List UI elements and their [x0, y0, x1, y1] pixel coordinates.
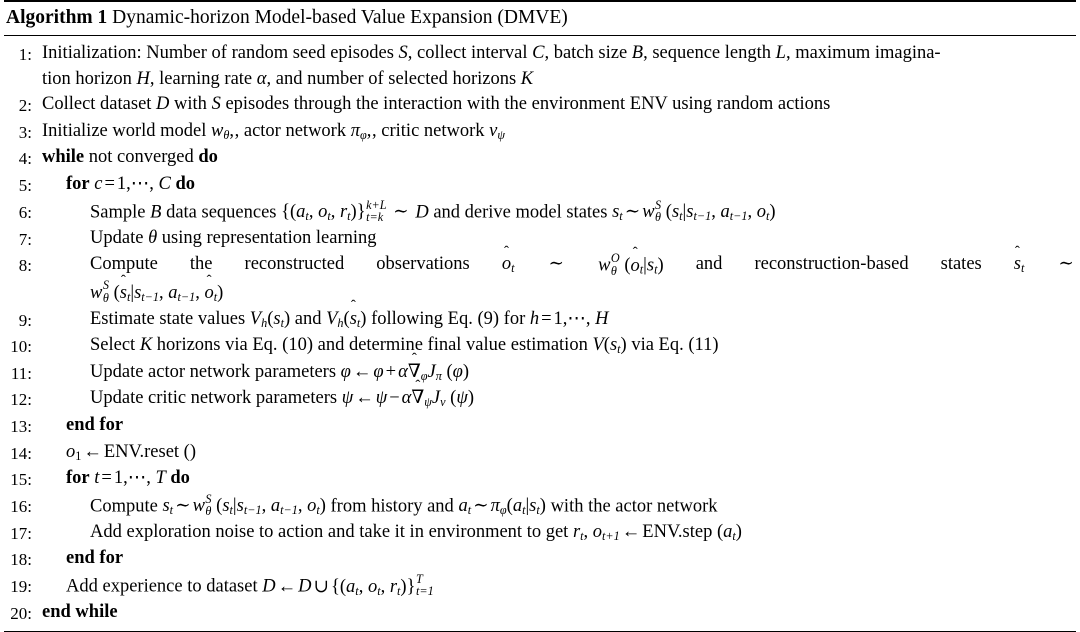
step-number: 1: — [4, 41, 38, 68]
step-text: from history and — [331, 496, 454, 516]
symbol-o: o — [593, 522, 602, 542]
algorithm-block: Algorithm 1 Dynamic-horizon Model-based … — [0, 0, 1080, 632]
algorithm-step: 8: Compute the reconstructed observation… — [4, 252, 1076, 306]
step-number: 20: — [4, 600, 38, 627]
hat-mark: ˆ — [121, 274, 126, 289]
step-content: end while — [38, 600, 1076, 626]
algorithm-step: 19: Add experience to dataset D←D∪{(at, … — [4, 573, 1076, 600]
symbol-s: s — [222, 496, 229, 516]
operator-equals: = — [539, 309, 553, 329]
step-number: 14: — [4, 440, 38, 467]
symbol-K: K — [521, 69, 533, 89]
hat-mark: ˆ — [415, 379, 420, 394]
step-number: 13: — [4, 413, 38, 440]
step-text: Update — [90, 228, 143, 248]
step-number: 3: — [4, 119, 38, 146]
step-text: using representation learning — [162, 228, 377, 248]
operator-union: ∪ — [311, 577, 331, 597]
symbol-V: V — [592, 335, 603, 355]
symbol-alpha: α — [402, 388, 412, 408]
step-text: Initialize world model — [42, 121, 206, 141]
observation-model: wOθ (ˆot|st) — [598, 252, 664, 279]
step-text: , learning rate — [150, 69, 252, 89]
data-sequence-set: {(at, ot, rt)}k+Lt=k — [281, 202, 386, 222]
symbol-o: o — [318, 202, 327, 222]
hat-mark: ˆ — [504, 245, 509, 260]
symbol-a: a — [723, 522, 732, 542]
env-reset-equation: o1←ENV.reset () — [66, 442, 196, 462]
symbol-D: D — [156, 94, 169, 114]
symbol-psi: ψ — [456, 388, 468, 408]
step-content: Initialize world model wθ, , actor netwo… — [38, 119, 1076, 145]
algorithm-step: 20: end while — [4, 600, 1076, 627]
operator-assign: ← — [81, 442, 104, 462]
symbol-D: D — [298, 577, 311, 597]
step-content: Update critic network parameters ψ←ψ−αˆ∇… — [38, 386, 1076, 412]
algorithm-step: 17: Add exploration noise to action and … — [4, 520, 1076, 547]
symbol-alpha: α — [398, 362, 408, 382]
symbol-V: V — [250, 309, 261, 329]
algorithm-step: 9: Estimate state values Vh(st) and Vh(ˆ… — [4, 307, 1076, 334]
empty-parens: () — [184, 442, 196, 462]
step-text: Update critic network parameters — [90, 388, 337, 408]
symbol-a: a — [458, 496, 467, 516]
step-number: 5: — [4, 172, 38, 199]
algorithm-step: 5: for c=1,⋯, C do — [4, 172, 1076, 199]
symbol-phi: φ — [360, 128, 367, 142]
symbol-a: a — [271, 496, 280, 516]
set-sub: t=1 — [416, 585, 434, 597]
step-text: following Eq. (9) for — [371, 309, 525, 329]
step-content: Collect dataset D with S episodes throug… — [38, 92, 1076, 118]
keyword-do: do — [176, 174, 196, 194]
step-content: Select K horizons via Eq. (10) and deter… — [38, 333, 1076, 359]
symbol-H: H — [595, 309, 608, 329]
keyword-end-while: end while — [42, 602, 118, 622]
algorithm-step: 14: o1←ENV.reset () — [4, 440, 1076, 467]
algorithm-steps: 1: Initialization: Number of random seed… — [4, 36, 1076, 631]
symbol-J: J — [432, 388, 440, 408]
critic-update-equation: ψ←ψ−αˆ∇ψJv (ψ) — [342, 388, 474, 408]
algorithm-step: 10: Select K horizons via Eq. (10) and d… — [4, 333, 1076, 360]
step-text: , and number of selected horizons — [266, 69, 516, 89]
set-limits: k+Lt=k — [366, 199, 386, 224]
ellipsis: ⋯ — [128, 468, 147, 488]
actor-update-equation: φ←φ+αˆ∇φJπ (φ) — [341, 362, 469, 382]
symbol-w: w — [90, 283, 102, 303]
experience-set: {(at, ot, rt)}Tt=1 — [331, 577, 434, 597]
sub-t-minus-1: t−1 — [693, 209, 711, 223]
step-text: Sample — [90, 202, 146, 222]
symbol-phi: φ — [341, 362, 351, 382]
algorithm-step: 4: while not converged do — [4, 145, 1076, 172]
operator-sim: ∼ — [1056, 252, 1076, 279]
symbol-C: C — [532, 43, 544, 63]
step-content: Update θ using representation learning — [38, 226, 1076, 252]
set-open: {( — [281, 202, 296, 222]
symbol-theta: θ — [223, 128, 229, 142]
symbol-pi: π — [491, 496, 500, 516]
symbol-J: J — [428, 362, 436, 382]
symbol-C: C — [159, 174, 171, 194]
step-number: 15: — [4, 466, 38, 493]
step-text: , sequence length — [643, 43, 771, 63]
symbol-s: s — [647, 256, 654, 276]
symbol-D: D — [262, 577, 275, 597]
step-text: , actor network — [235, 121, 346, 141]
step-number: 8: — [4, 252, 38, 279]
step-text: via Eq. (11) — [631, 335, 718, 355]
value-function-recon-state: Vh(ˆst) — [326, 309, 366, 329]
hat-mark: ˆ — [207, 274, 212, 289]
step-text: reconstruction-based — [754, 252, 908, 279]
algorithm-step: 18: end for — [4, 546, 1076, 573]
set-open: {( — [331, 577, 346, 597]
operator-assign: ← — [276, 577, 299, 597]
step-text: horizons via Eq. (10) and determine fina… — [157, 335, 588, 355]
step-text: episodes through the interaction with th… — [225, 94, 830, 114]
operator-sim: ∼ — [547, 252, 567, 279]
keyword-do: do — [198, 147, 218, 167]
keyword-for: for — [66, 174, 90, 194]
symbol-a: a — [168, 283, 177, 303]
world-model-state: wSθ (st|st−1, at−1, ot) — [642, 202, 775, 222]
algorithm-title: Algorithm 1 Dynamic-horizon Model-based … — [4, 2, 1076, 35]
algorithm-step: 3: Initialize world model wθ, , actor ne… — [4, 119, 1076, 146]
symbol-s: s — [237, 496, 244, 516]
set-sup: T — [416, 573, 434, 585]
algorithm-step: 12: Update critic network parameters ψ←ψ… — [4, 386, 1076, 413]
symbol-a: a — [346, 577, 355, 597]
set-close: )} — [351, 202, 366, 222]
step-text: Collect dataset — [42, 94, 151, 114]
algorithm-step: 7: Update θ using representation learnin… — [4, 226, 1076, 253]
hat-mark: ˆ — [351, 299, 356, 314]
step-text: data sequences — [166, 202, 276, 222]
value-one: 1 — [117, 174, 126, 194]
step-text: , maximum imagina- — [786, 43, 941, 63]
step-content: end for — [38, 413, 1076, 439]
step-text: reconstructed — [245, 252, 345, 279]
step-text: Add exploration noise to action and take… — [90, 522, 568, 542]
step-text: Initialization: Number of random seed ep… — [42, 43, 394, 63]
symbol-L: L — [776, 43, 786, 63]
operator-sim: ∼ — [623, 202, 643, 222]
step-text: Select — [90, 335, 135, 355]
env-reset-call: ENV.reset — [104, 442, 179, 462]
step-text: Compute — [90, 496, 158, 516]
step-text: Update actor network parameters — [90, 362, 336, 382]
symbol-B: B — [632, 43, 643, 63]
symbol-s: s — [273, 309, 280, 329]
step-text: not converged — [89, 147, 194, 167]
symbol-w: w — [598, 256, 610, 276]
symbol-B: B — [150, 202, 161, 222]
step-content: Sample B data sequences {(at, ot, rt)}k+… — [38, 199, 1076, 226]
operator-sim: ∼ — [173, 496, 193, 516]
step-content: for c=1,⋯, C do — [38, 172, 1076, 198]
state-transition-model: wSθ (st|st−1, at−1, ot) — [193, 496, 326, 516]
reconstructed-observation: ˆot — [502, 252, 515, 279]
sub-t-plus-1: t+1 — [602, 529, 620, 543]
step-content: Add exploration noise to action and take… — [38, 520, 1076, 546]
step-text: and — [295, 309, 322, 329]
symbol-w: w — [211, 121, 223, 141]
symbol-S: S — [399, 43, 408, 63]
algorithm-step: 6: Sample B data sequences {(at, ot, rt)… — [4, 199, 1076, 226]
hat-mark: ˆ — [412, 352, 417, 367]
env-step-equation: rt, ot+1←ENV.step (at) — [573, 522, 742, 542]
step-number: 12: — [4, 386, 38, 413]
reconstructed-state: ˆst — [1014, 252, 1025, 279]
sub-theta: θ — [611, 265, 620, 277]
step-content: Update actor network parameters φ←φ+αˆ∇φ… — [38, 360, 1076, 386]
sub-phi: φ — [421, 369, 428, 383]
algorithm-step: 2: Collect dataset D with S episodes thr… — [4, 92, 1076, 119]
symbol-a: a — [513, 496, 522, 516]
step-text: Add experience to dataset — [66, 577, 258, 597]
step-number: 7: — [4, 226, 38, 253]
algorithm-step: 13: end for — [4, 413, 1076, 440]
symbol-r: r — [390, 577, 397, 597]
operator-assign: ← — [353, 388, 376, 408]
keyword-end-for: end for — [66, 548, 123, 568]
env-step-call: ENV.step — [642, 522, 712, 542]
symbol-w: w — [642, 202, 654, 222]
step-text: with — [174, 94, 207, 114]
symbol-o: o — [757, 202, 766, 222]
operator-assign: ← — [620, 522, 643, 542]
final-value-estimate: V(st) — [592, 335, 626, 355]
symbol-psi: ψ — [376, 388, 388, 408]
symbol-V: V — [326, 309, 337, 329]
step-content: Add experience to dataset D←D∪{(at, ot, … — [38, 573, 1076, 600]
step-text: states — [941, 252, 982, 279]
symbol-a: a — [720, 202, 729, 222]
operator-equals: = — [99, 468, 113, 488]
algorithm-title-text: Dynamic-horizon Model-based Value Expans… — [112, 7, 568, 28]
step-content: Estimate state values Vh(st) and Vh(ˆst)… — [38, 307, 1076, 333]
symbol-phi: φ — [453, 362, 463, 382]
operator-plus: + — [384, 362, 398, 382]
step-number: 6: — [4, 199, 38, 226]
keyword-end-for: end for — [66, 415, 123, 435]
step-number: 4: — [4, 145, 38, 172]
step-text: , batch size — [544, 43, 627, 63]
step-justified-row: Compute the reconstructed observations ˆ… — [90, 252, 1076, 279]
symbol-S: S — [212, 94, 221, 114]
symbol-psi: ψ — [497, 128, 505, 142]
actor-policy: πφ(at|st) — [491, 496, 546, 516]
sub-t-minus-1: t−1 — [244, 503, 262, 517]
operator-minus: − — [387, 388, 401, 408]
ellipsis: ⋯ — [131, 174, 150, 194]
algorithm-label: Algorithm 1 — [6, 7, 107, 28]
step-text: , collect interval — [408, 43, 528, 63]
step-content: while not converged do — [38, 145, 1076, 171]
step-content: Initialization: Number of random seed ep… — [38, 41, 1076, 92]
sup-O: O — [611, 252, 620, 264]
sub-phi: φ — [500, 503, 507, 517]
step-text: and derive model states — [433, 202, 607, 222]
ellipsis: ⋯ — [567, 309, 586, 329]
step-text: , critic network — [372, 121, 485, 141]
algorithm-step: 1: Initialization: Number of random seed… — [4, 41, 1076, 92]
symbol-h: h — [530, 309, 539, 329]
algorithm-step: 15: for t=1,⋯, T do — [4, 466, 1076, 493]
algorithm-step: 16: Compute st∼wSθ (st|st−1, at−1, ot) f… — [4, 493, 1076, 520]
step-text: tion horizon — [42, 69, 132, 89]
step-text: and — [696, 252, 723, 279]
symbol-o: o — [66, 442, 75, 462]
set-sub: t=k — [366, 211, 386, 223]
symbol-D: D — [415, 202, 428, 222]
symbol-T: T — [155, 468, 165, 488]
step-content: end for — [38, 546, 1076, 572]
symbol-w: w — [193, 496, 205, 516]
sub-t-minus-1: t−1 — [280, 503, 298, 517]
symbol-H: H — [137, 69, 150, 89]
step-number: 9: — [4, 307, 38, 334]
operator-assign: ← — [351, 362, 374, 382]
step-text: Estimate state values — [90, 309, 245, 329]
sub-psi: ψ — [424, 395, 432, 409]
symbol-pi: π — [351, 121, 360, 141]
state-model-continuation: wSθ (ˆst|st−1, at−1, ˆot) — [90, 283, 223, 303]
symbol-phi: φ — [373, 362, 383, 382]
operator-sim: ∼ — [471, 496, 491, 516]
step-content: Compute the reconstructed observations ˆ… — [38, 252, 1076, 306]
symbol-o: o — [368, 577, 377, 597]
keyword-for: for — [66, 468, 90, 488]
symbol-theta: θ — [148, 228, 157, 248]
keyword-do: do — [170, 468, 190, 488]
symbol-s: s — [162, 496, 169, 516]
step-number: 18: — [4, 546, 38, 573]
symbol-K: K — [140, 335, 152, 355]
step-content: o1←ENV.reset () — [38, 440, 1076, 466]
operator-sim: ∼ — [391, 202, 411, 222]
operator-equals: = — [102, 174, 116, 194]
value-one: 1 — [554, 309, 563, 329]
step-text: observations — [376, 252, 470, 279]
symbol-o: o — [307, 496, 316, 516]
set-close: )} — [400, 577, 415, 597]
step-content: Compute st∼wSθ (st|st−1, at−1, ot) from … — [38, 493, 1076, 520]
hat-mark: ˆ — [633, 246, 638, 261]
sub-t-minus-1: t−1 — [730, 209, 748, 223]
value-one: 1 — [114, 468, 123, 488]
step-content: for t=1,⋯, T do — [38, 466, 1076, 492]
step-number: 11: — [4, 360, 38, 387]
value-function-state: Vh(st) — [250, 309, 290, 329]
step-number: 2: — [4, 92, 38, 119]
set-limits: Tt=1 — [416, 573, 434, 598]
keyword-while: while — [42, 147, 84, 167]
symbol-psi: ψ — [342, 388, 354, 408]
step-number: 19: — [4, 573, 38, 600]
step-number: 17: — [4, 520, 38, 547]
hat-mark: ˆ — [1015, 245, 1020, 260]
step-number: 10: — [4, 333, 38, 360]
step-number: 16: — [4, 493, 38, 520]
algorithm-step: 11: Update actor network parameters φ←φ+… — [4, 360, 1076, 387]
step-text: with the actor network — [551, 496, 718, 516]
